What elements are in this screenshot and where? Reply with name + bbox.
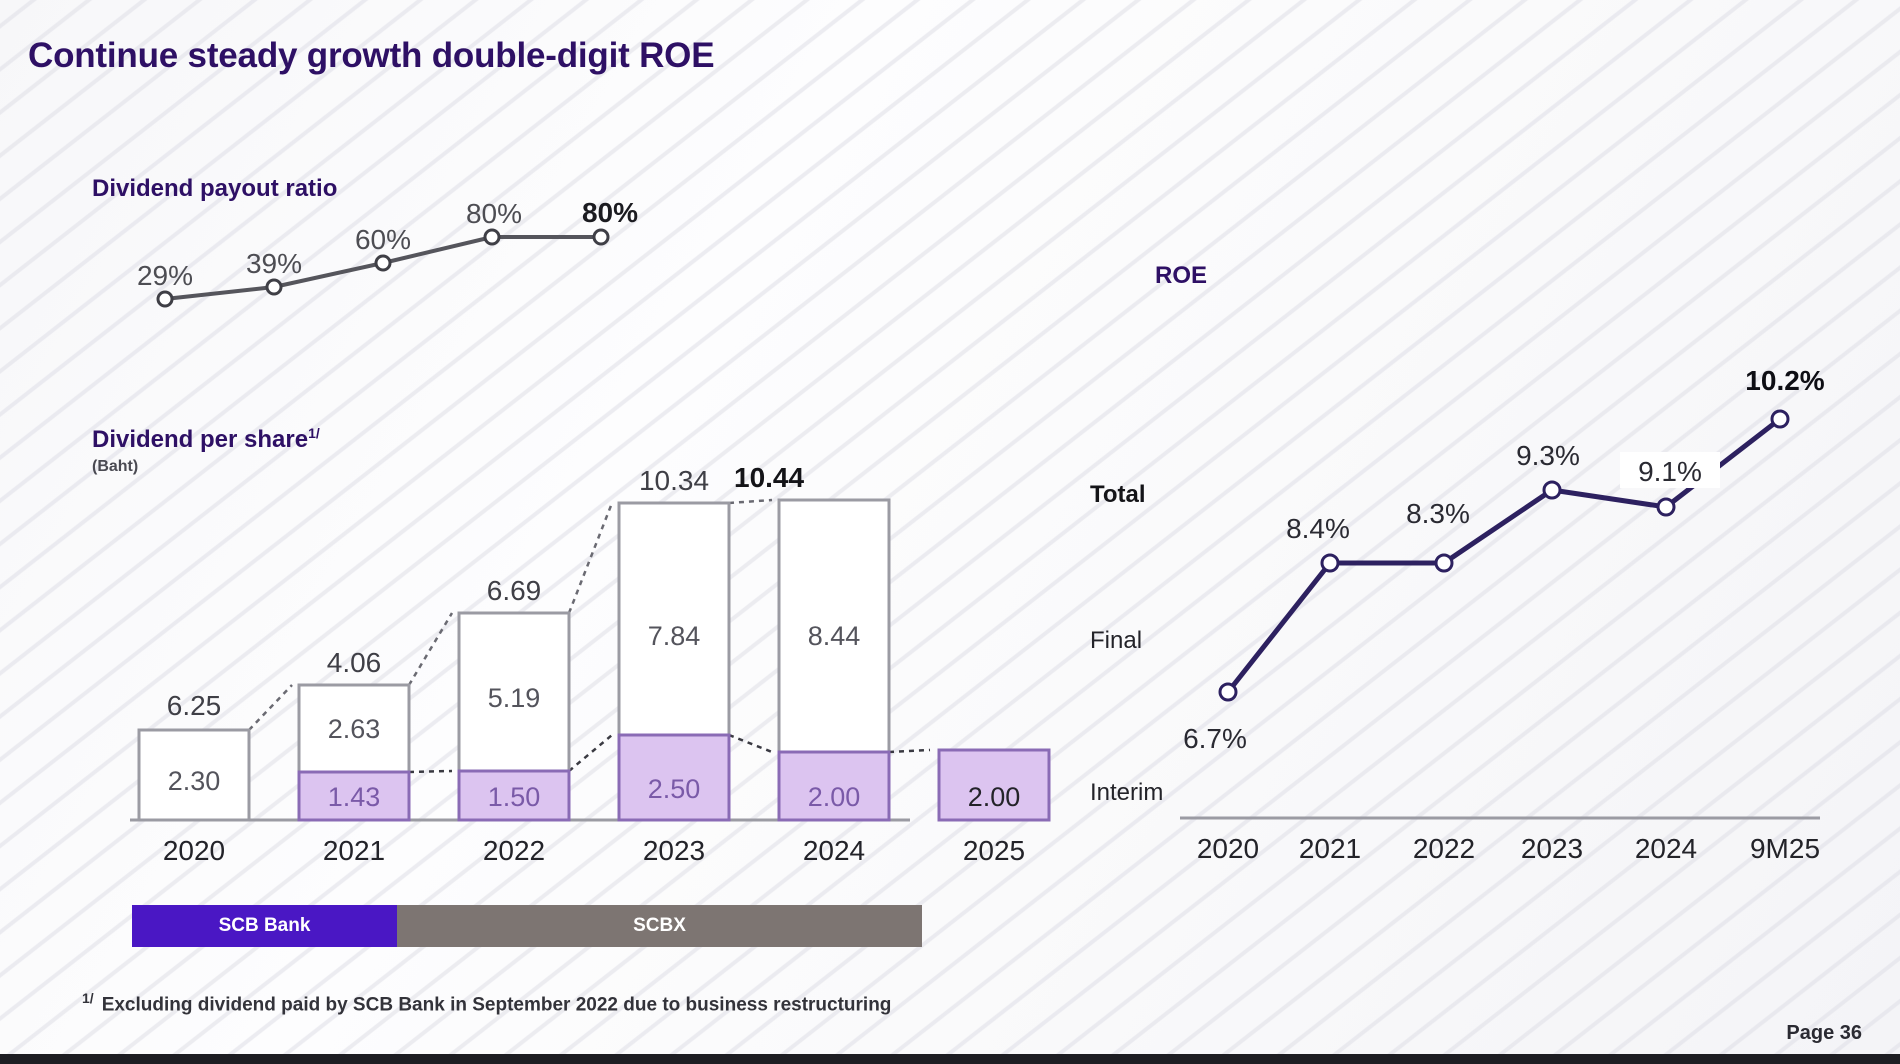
bottom-accent-bar bbox=[0, 1054, 1900, 1064]
roe-label-2021: 8.4% bbox=[1286, 513, 1350, 544]
legend-scbx: SCBX bbox=[397, 905, 922, 947]
roe-label-2023: 9.3% bbox=[1516, 440, 1580, 471]
roe-label-2022: 8.3% bbox=[1406, 498, 1470, 529]
roe-axis-2022: 2022 bbox=[1413, 833, 1475, 864]
footnote-marker: 1/ bbox=[82, 990, 94, 1006]
roe-chart: 6.7% 8.4% 8.3% 9.3% 9.1% 10.2% 2020 2021… bbox=[0, 0, 1900, 900]
entity-legend-bar: SCB Bank SCBX bbox=[132, 905, 922, 947]
roe-axis-2020: 2020 bbox=[1197, 833, 1259, 864]
legend-scb-bank: SCB Bank bbox=[132, 905, 397, 947]
roe-label-2020: 6.7% bbox=[1183, 723, 1247, 754]
roe-axis-2024: 2024 bbox=[1635, 833, 1697, 864]
roe-axis-2023: 2023 bbox=[1521, 833, 1583, 864]
footnote-text: Excluding dividend paid by SCB Bank in S… bbox=[102, 994, 892, 1015]
roe-label-2024: 9.1% bbox=[1638, 456, 1702, 487]
roe-axis-2021: 2021 bbox=[1299, 833, 1361, 864]
roe-axis-labels: 2020 2021 2022 2023 2024 9M25 bbox=[1197, 833, 1820, 864]
roe-label-9m25: 10.2% bbox=[1745, 365, 1824, 396]
roe-axis-9m25: 9M25 bbox=[1750, 833, 1820, 864]
footnote: 1/Excluding dividend paid by SCB Bank in… bbox=[82, 990, 891, 1016]
page-number: Page 36 bbox=[1786, 1022, 1862, 1045]
